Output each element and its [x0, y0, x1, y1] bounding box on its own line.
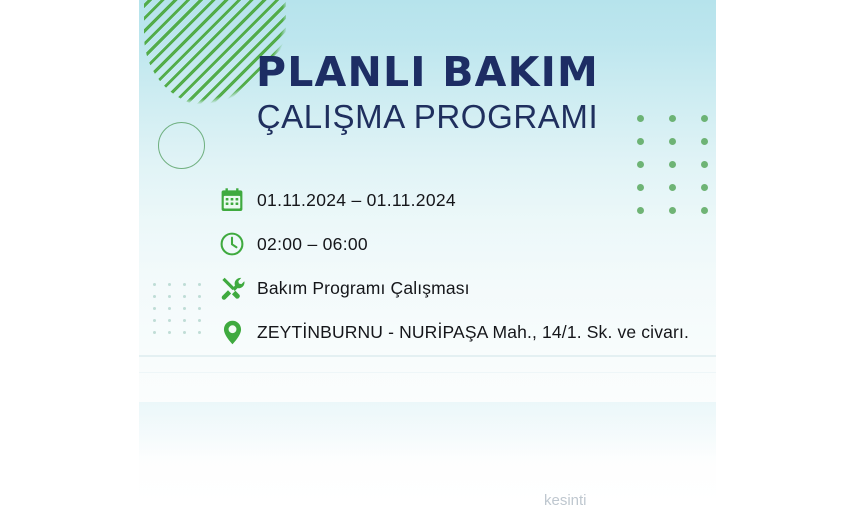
calendar-icon	[219, 183, 257, 217]
background-band-1	[139, 355, 716, 357]
screenshot-stage: PLANLI BAKIM ÇALIŞMA PROGRAMI	[0, 0, 860, 505]
detail-text-date: 01.11.2024 – 01.11.2024	[257, 190, 456, 211]
dot-grid-left-decoration	[153, 283, 213, 343]
detail-text-worktype: Bakım Programı Çalışması	[257, 278, 470, 299]
detail-text-time: 02:00 – 06:00	[257, 234, 368, 255]
details-list: 01.11.2024 – 01.11.2024 02:00 – 06:00	[219, 178, 716, 354]
detail-row-worktype: Bakım Programı Çalışması	[219, 266, 716, 310]
detail-row-date: 01.11.2024 – 01.11.2024	[219, 178, 716, 222]
clock-icon	[219, 227, 257, 261]
maintenance-notice-card: PLANLI BAKIM ÇALIŞMA PROGRAMI	[139, 0, 716, 505]
detail-row-time: 02:00 – 06:00	[219, 222, 716, 266]
footer-partial-text: kesinti	[544, 492, 716, 505]
tools-icon	[219, 271, 257, 305]
detail-text-location: ZEYTİNBURNU - NURİPAŞA Mah., 14/1. Sk. v…	[257, 322, 689, 343]
detail-row-location: ZEYTİNBURNU - NURİPAŞA Mah., 14/1. Sk. v…	[219, 310, 716, 354]
page-title: PLANLI BAKIM	[139, 48, 716, 96]
background-band-2	[139, 372, 716, 373]
background-band-3	[139, 402, 716, 462]
page-subtitle: ÇALIŞMA PROGRAMI	[139, 98, 716, 136]
location-pin-icon	[219, 315, 257, 349]
